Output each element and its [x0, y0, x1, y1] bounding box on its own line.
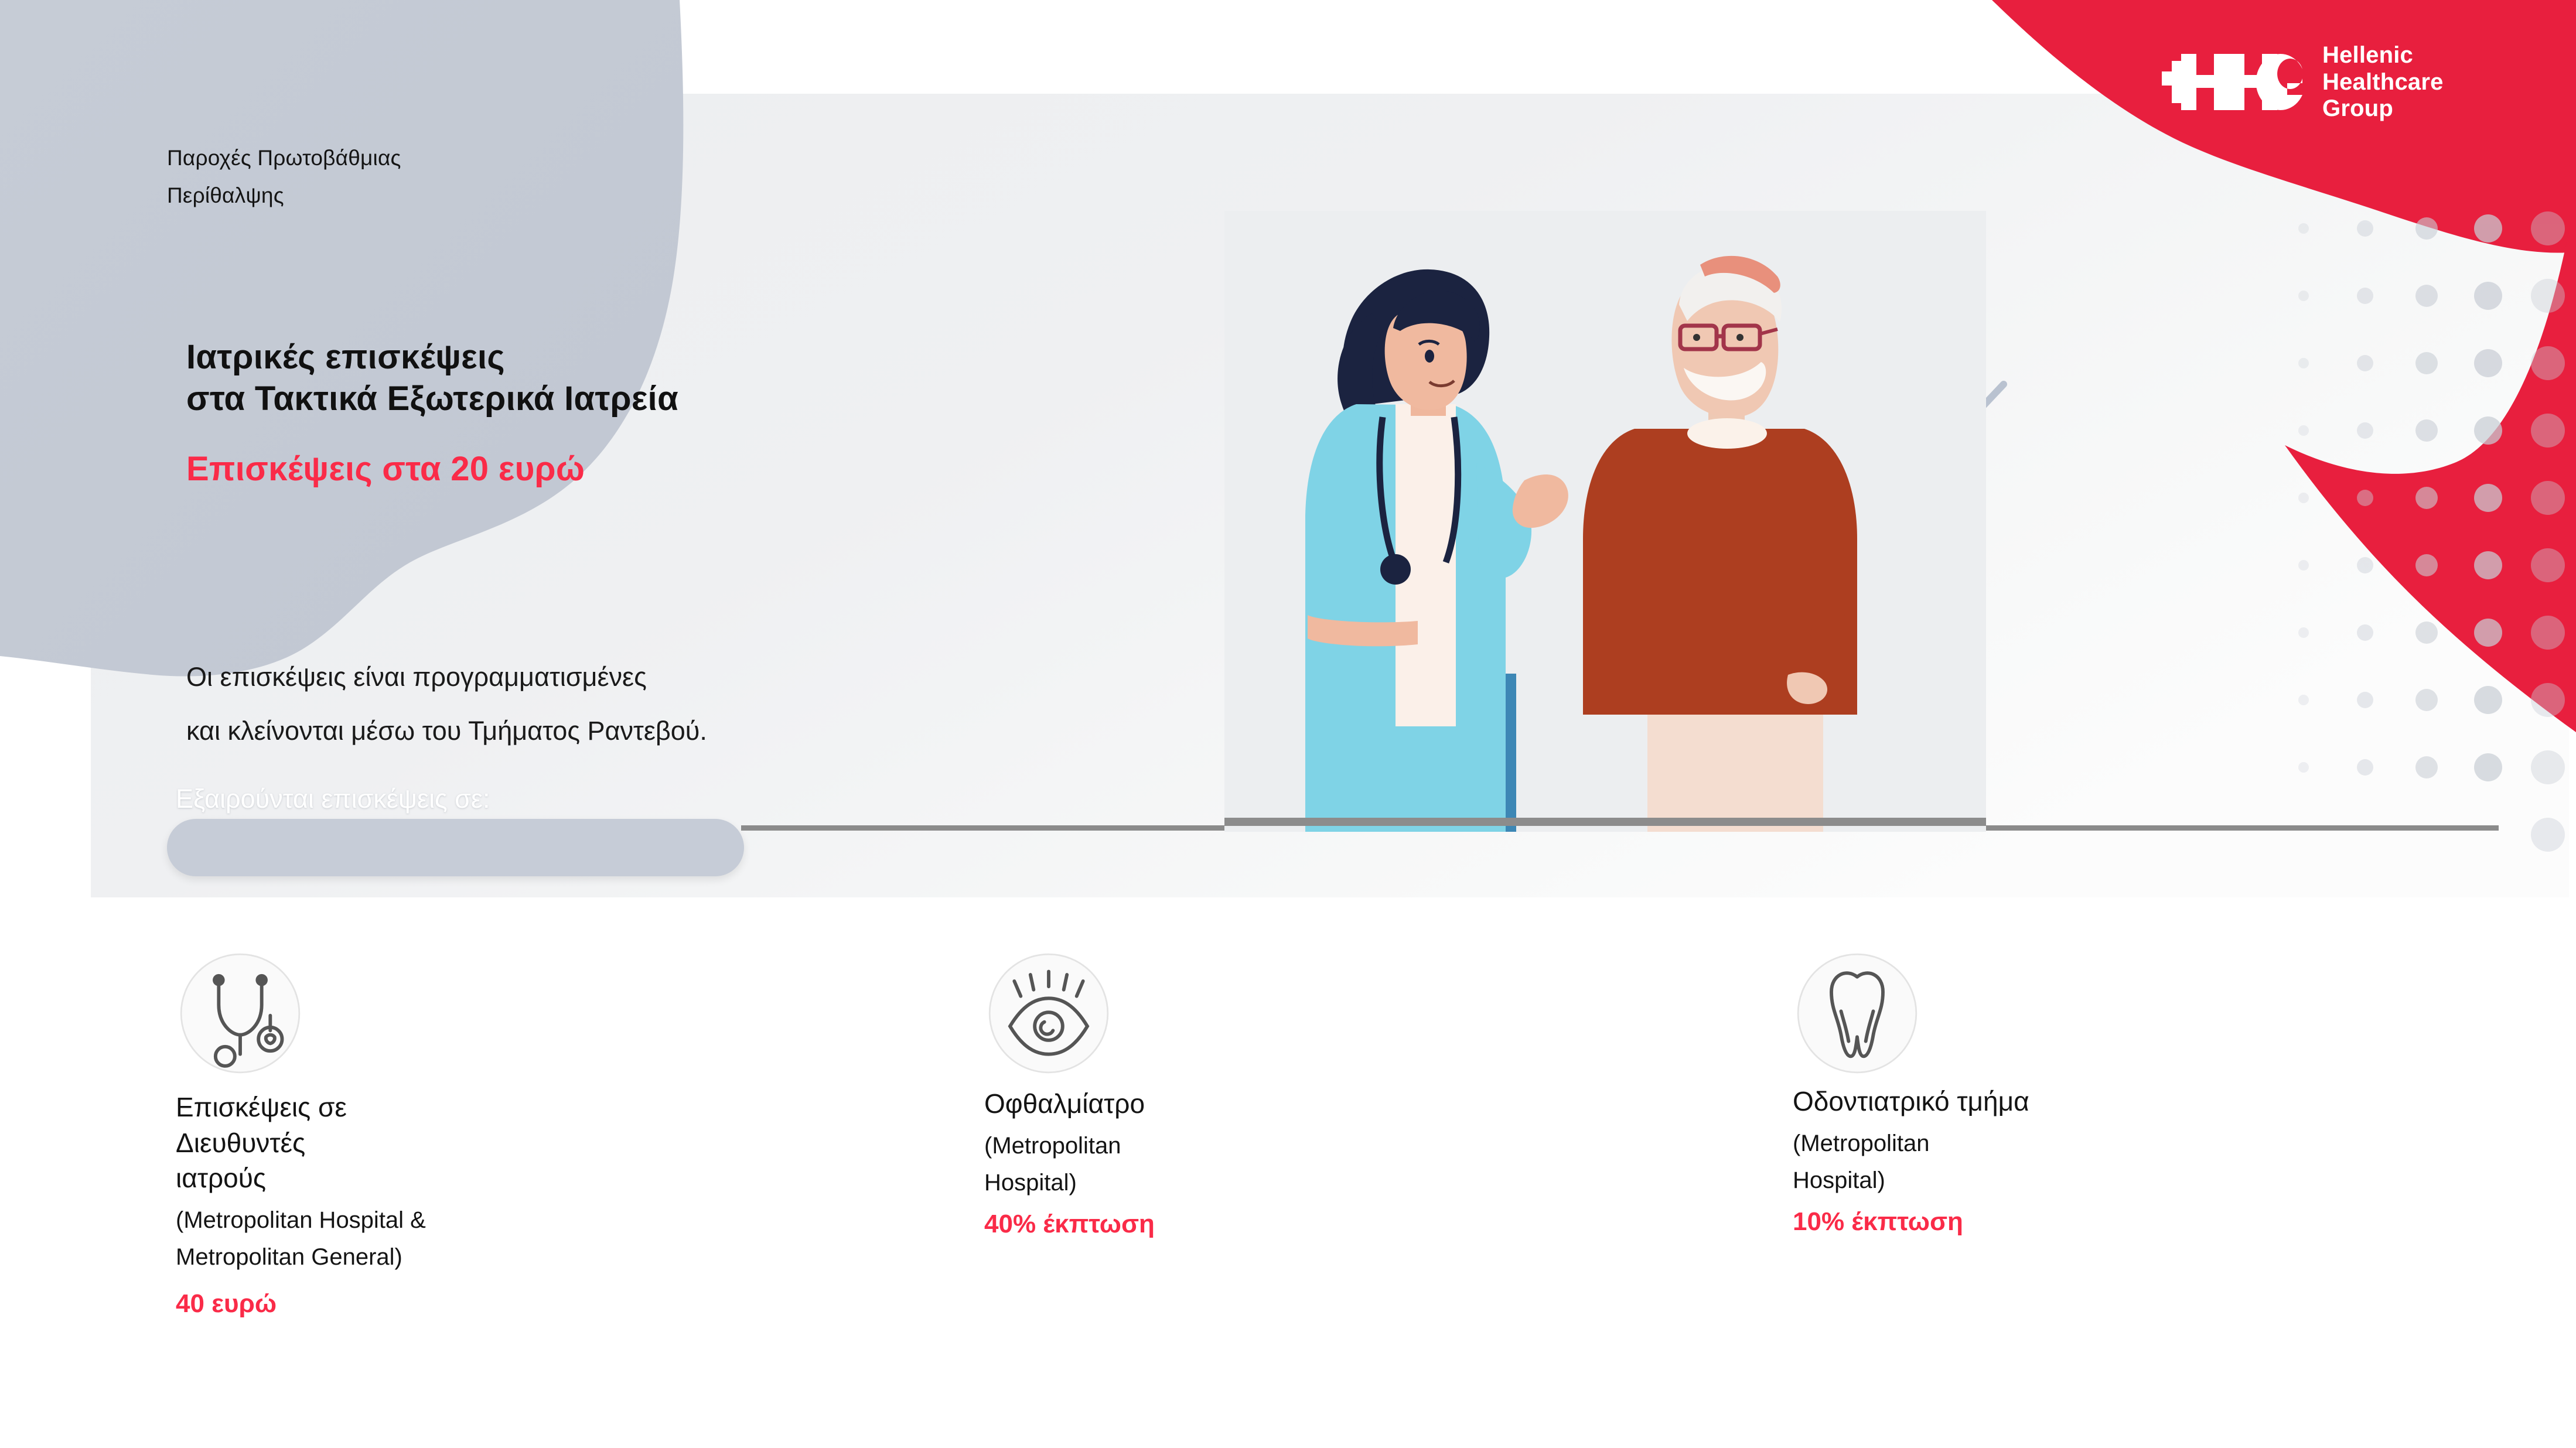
feature-title: Επισκέψεις σεΔιευθυντέςιατρούς — [176, 1090, 633, 1196]
dot-grid-decoration — [2271, 193, 2576, 914]
feature-price: 40% έκπτωση — [984, 1210, 1429, 1239]
body-line-1: Οι επισκέψεις είναι προγραμματισμένες — [186, 650, 1065, 704]
feature-card-doctors: Επισκέψεις σεΔιευθυντέςιατρούς (Metropol… — [176, 949, 633, 1319]
feature-subtitle: (MetropolitanHospital) — [984, 1128, 1429, 1201]
kicker-text: Παροχές Πρωτοβάθμιας Περίθαλψης — [167, 139, 577, 214]
body-paragraph: Οι επισκέψεις είναι προγραμματισμένες κα… — [186, 650, 1065, 758]
feature-title: Οφθαλμίατρο — [984, 1086, 1429, 1122]
feature-subtitle: (Metropolitan Hospital &Metropolitan Gen… — [176, 1202, 633, 1276]
slide-root: Hellenic Healthcare Group Παροχές Πρωτοβ… — [0, 0, 2576, 1448]
hhg-mark-icon — [2162, 49, 2308, 115]
feature-title: Οδοντιατρικό τμήμα — [1793, 1084, 2250, 1119]
doctor-patient-illustration — [1224, 211, 1986, 832]
hhg-logo: Hellenic Healthcare Group — [2162, 42, 2444, 122]
feature-price: 40 ευρώ — [176, 1289, 633, 1319]
kicker-line-2: Περίθαλψης — [167, 177, 577, 214]
exclusions-pill — [167, 819, 744, 876]
feature-price: 10% έκπτωση — [1793, 1207, 2250, 1237]
tooth-icon — [1793, 949, 1922, 1078]
eye-icon — [984, 949, 1113, 1078]
feature-card-ophthalmologist: Οφθαλμίατρο (MetropolitanHospital) 40% έ… — [984, 949, 1429, 1239]
feature-subtitle: (MetropolitanHospital) — [1793, 1125, 2250, 1199]
logo-text-line1: Hellenic — [2322, 42, 2444, 69]
headline-line-2: στα Τακτικά Εξωτερικά Ιατρεία — [186, 378, 1065, 420]
features-row: Επισκέψεις σεΔιευθυντέςιατρούς (Metropol… — [0, 949, 2576, 1418]
logo-text-line3: Group — [2322, 95, 2444, 122]
body-line-2: και κλείνονται μέσω του Τμήματος Ραντεβο… — [186, 704, 1065, 758]
headline-accent: Επισκέψεις στα 20 ευρώ — [186, 449, 1065, 489]
headline-block: Ιατρικές επισκέψεις στα Τακτικά Εξωτερικ… — [186, 337, 1065, 489]
exclusions-label: Εξαιρούνται επισκέψεις σε: — [176, 784, 490, 814]
kicker-line-1: Παροχές Πρωτοβάθμιας — [167, 139, 577, 177]
stethoscope-icon — [176, 949, 305, 1078]
feature-card-dental: Οδοντιατρικό τμήμα (MetropolitanHospital… — [1793, 949, 2250, 1237]
logo-text-line2: Healthcare — [2322, 69, 2444, 96]
headline-line-1: Ιατρικές επισκέψεις — [186, 337, 1065, 378]
